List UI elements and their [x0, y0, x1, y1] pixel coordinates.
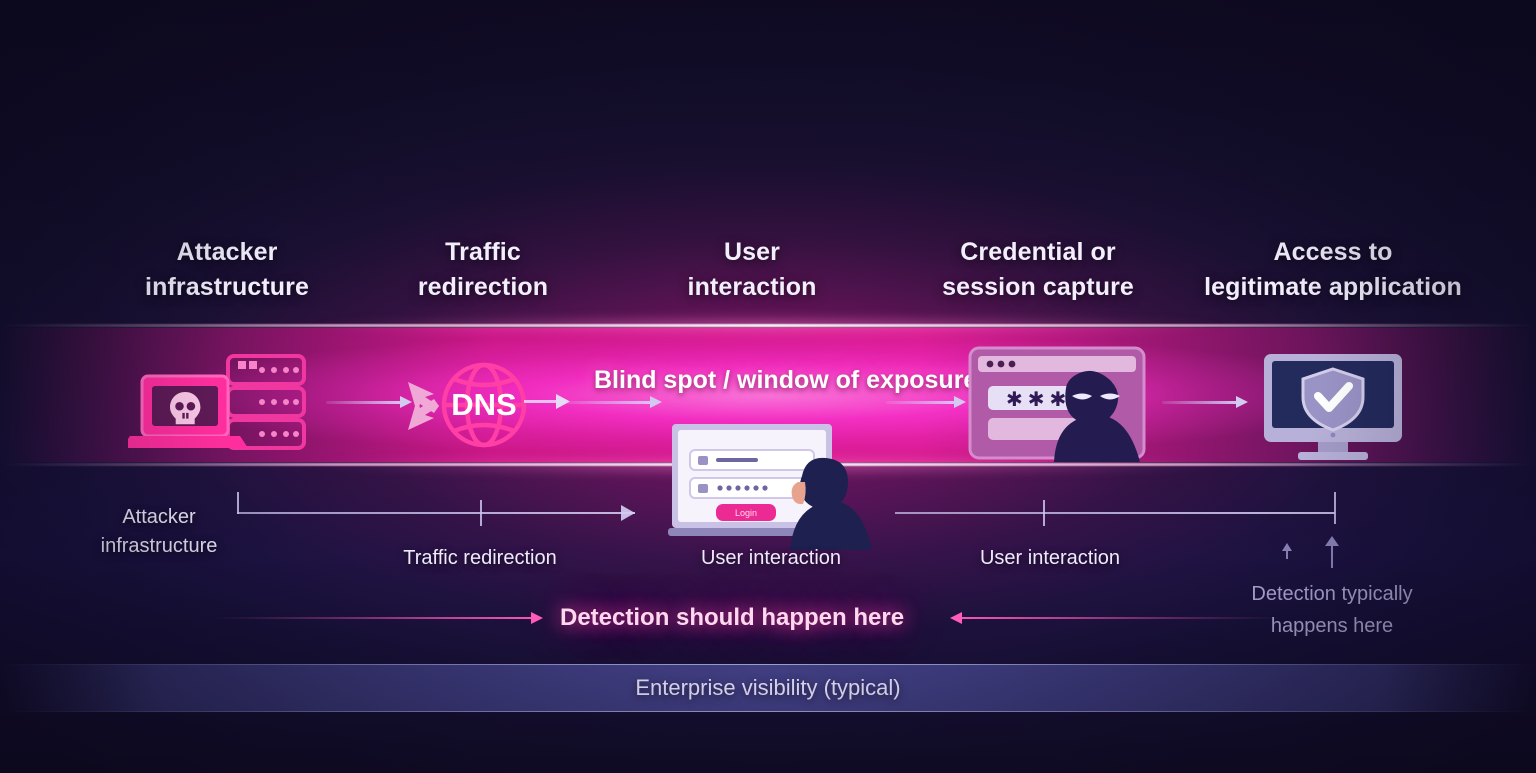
blind-spot-caption: Blind spot / window of exposure [594, 366, 977, 395]
dns-globe-icon: DNS [406, 358, 578, 452]
timeline-segment-1-line [237, 512, 635, 514]
stage-header-traffic-redirection: Traffic redirection [358, 235, 608, 305]
enterprise-visibility-label: Enterprise visibility (typical) [0, 675, 1536, 701]
stage-header-access-legitimate-app: Access to legitimate application [1180, 235, 1486, 305]
stage-header-user-interaction: User interaction [630, 235, 874, 305]
stage-header-credential-capture: Credential or session capture [898, 235, 1178, 305]
stage-header-line1: Credential or [898, 235, 1178, 270]
timeline-label-user-interaction-left: User interaction [656, 544, 886, 573]
dns-label: DNS [451, 387, 516, 422]
timeline-arrowhead-1-icon [621, 505, 635, 521]
detection-typical-label: Detection typically happens here [1212, 578, 1452, 642]
detection-typical-line2: happens here [1212, 610, 1452, 642]
flow-arrow-3-icon [886, 396, 966, 408]
infographic-canvas: Attacker infrastructure Traffic redirect… [0, 0, 1536, 773]
stage-header-line2: interaction [630, 270, 874, 305]
laptop-skull-server-icon [128, 352, 314, 456]
timeline-segment-2-line [895, 512, 1335, 514]
timeline-tick-mid-1 [480, 500, 482, 526]
timeline-label-traffic-redirection: Traffic redirection [355, 544, 605, 573]
timeline-label-attacker-infrastructure: Attacker infrastructure [64, 503, 254, 561]
flow-arrow-4-icon [1162, 396, 1248, 408]
detection-typical-arrow-small-icon [1273, 543, 1301, 567]
stage-header-line1: User [630, 235, 874, 270]
timeline-label-line1: Attacker [64, 503, 254, 532]
detection-typical-arrow-icon [1318, 536, 1346, 568]
flow-arrow-1-icon [326, 396, 412, 408]
detection-arrow-left-icon [213, 612, 543, 624]
stage-header-line2: legitimate application [1180, 270, 1486, 305]
stage-header-line2: redirection [358, 270, 608, 305]
band-top-edge-line [0, 324, 1536, 327]
password-window-hacker-icon: ✱✱✱✱ [966, 344, 1148, 462]
stage-header-line1: Traffic [358, 235, 608, 270]
monitor-shield-check-icon [1256, 352, 1410, 462]
detection-typical-line1: Detection typically [1212, 578, 1452, 610]
stage-header-line1: Access to [1180, 235, 1486, 270]
stage-header-attacker-infrastructure: Attacker infrastructure [92, 235, 362, 305]
timeline-tick-end [1334, 492, 1336, 524]
timeline-tick-mid-2 [1043, 500, 1045, 526]
stage-header-line2: infrastructure [92, 270, 362, 305]
login-button-label: Login [735, 508, 757, 518]
timeline-label-user-interaction-right: User interaction [935, 544, 1165, 573]
stage-header-line1: Attacker [92, 235, 362, 270]
detection-should-happen-label: Detection should happen here [560, 604, 904, 632]
stage-header-line2: session capture [898, 270, 1178, 305]
timeline-label-line2: infrastructure [64, 532, 254, 561]
login-screen-user-icon: Login [662, 418, 880, 550]
flow-arrow-2-icon [566, 396, 662, 408]
